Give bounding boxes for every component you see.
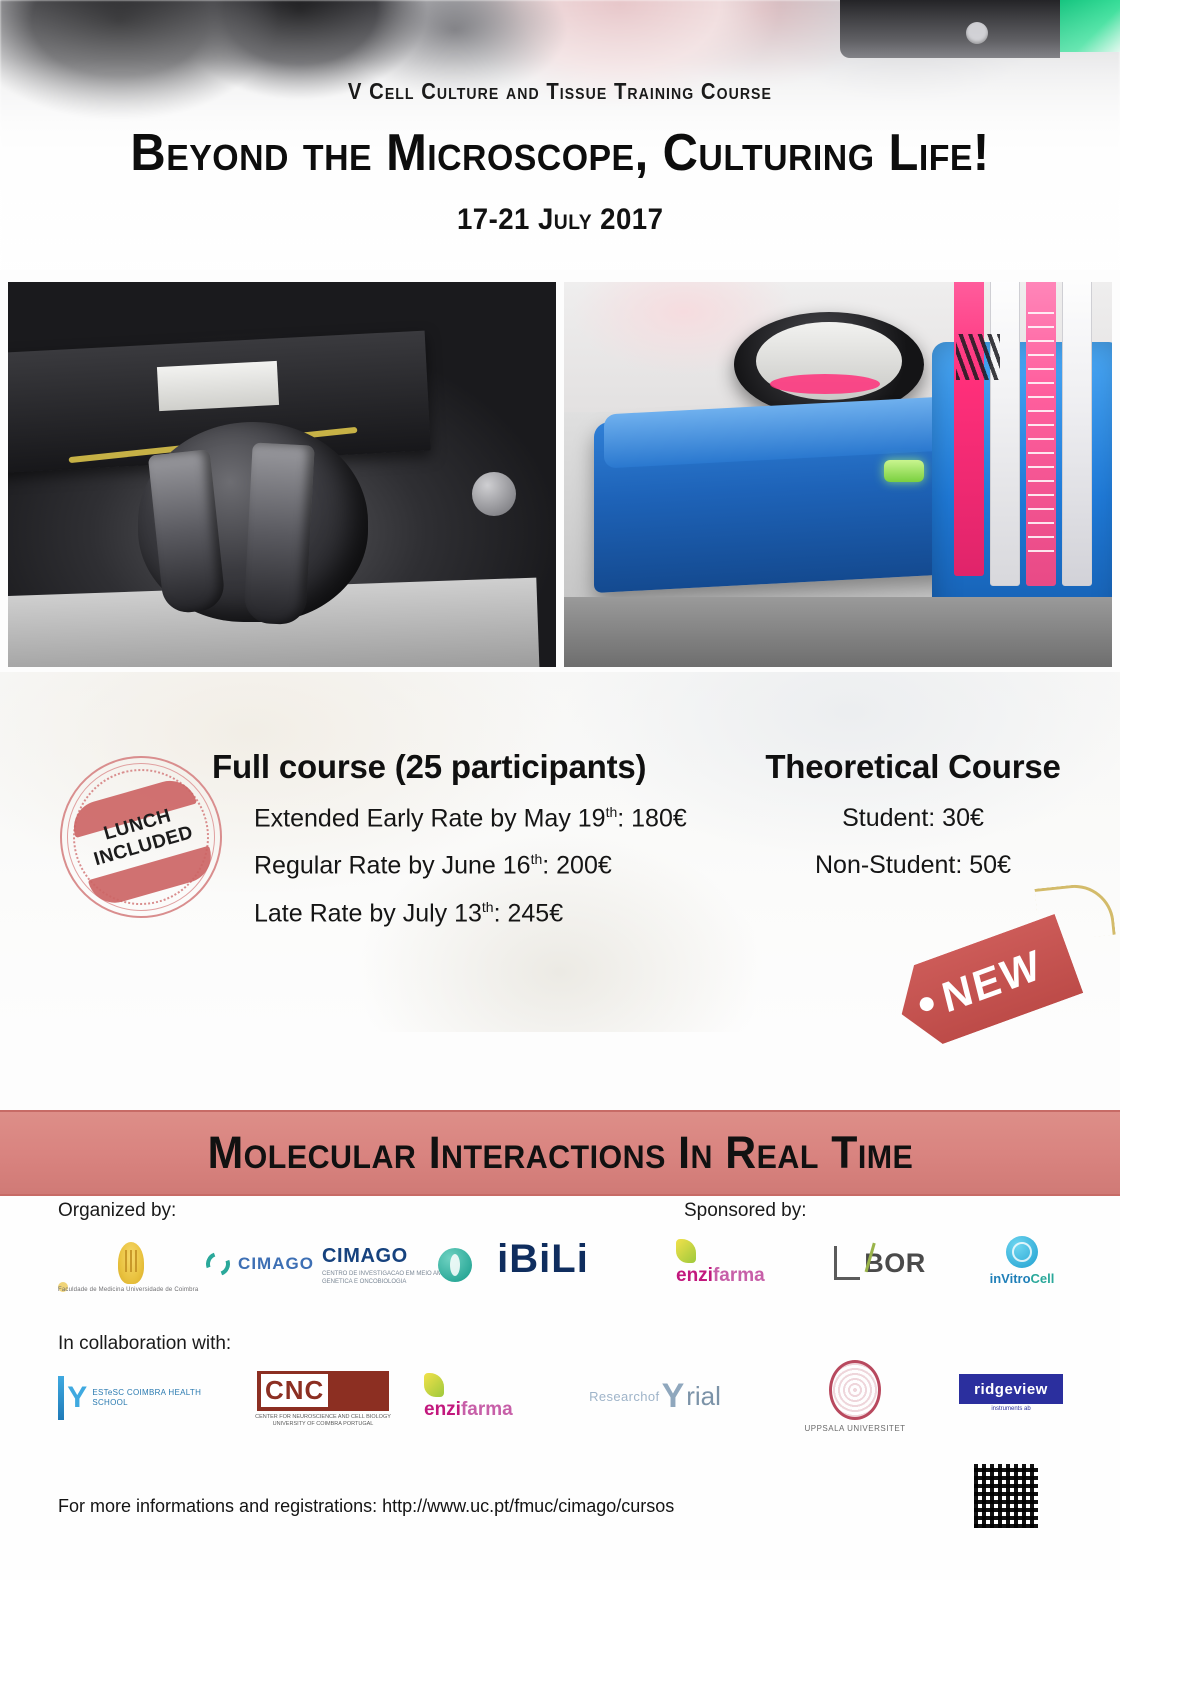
qr-code [972, 1462, 1040, 1530]
collaboration-label: In collaboration with: [58, 1333, 231, 1355]
research-trial-mid: of [648, 1389, 660, 1404]
rate-ordinal: th [531, 851, 543, 867]
logo-universidade-de-coimbra: Faculdade de Medicina Universidade de Co… [58, 1232, 204, 1294]
full-course-column: Full course (25 participants) Extended E… [212, 748, 732, 928]
full-course-rate: Late Rate by July 13th: 245€ [254, 899, 732, 928]
cnc-subtitle: CENTER FOR NEUROSCIENCE AND CELL BIOLOGY… [248, 1414, 398, 1428]
course-dates: 17-21 July 2017 [457, 203, 663, 237]
rate-price: : 245€ [494, 899, 564, 927]
uc-crest-icon [118, 1242, 144, 1284]
enzifarma-text-a: enzi [676, 1265, 713, 1286]
microscope-slide [157, 361, 279, 411]
logo-coimbra-health-school: Y ESTeSC COIMBRA HEALTH SCHOOL [58, 1368, 208, 1428]
organized-by-label: Organized by: [58, 1200, 176, 1222]
uppsala-seal-icon [829, 1360, 881, 1420]
theoretical-course-rate: Student: 30€ [748, 804, 1078, 833]
enzifarma-leaf-icon [424, 1373, 444, 1397]
clear-test-tube [1062, 282, 1092, 586]
logo-cimago-fmuc: CIMAGO CENTRO DE INVESTIGACAO EM MEIO AM… [322, 1234, 472, 1296]
enzifarma-text-b: farma [713, 1265, 765, 1286]
rate-ordinal: th [606, 804, 618, 820]
rate-price: : 180€ [617, 804, 687, 832]
enzifarma-wordmark: enzifarma [676, 1265, 765, 1287]
logo-ridgeview: ridgeview instruments ab [952, 1368, 1070, 1418]
title-block: V Cell Culture and Tissue Training Cours… [0, 0, 1120, 272]
chs-y-icon: Y [67, 1383, 87, 1413]
course-eyebrow: V Cell Culture and Tissue Training Cours… [348, 78, 772, 105]
microscope-photo [8, 282, 556, 667]
logo-enzifarma: enzifarma [676, 1232, 798, 1294]
microscope-focus-knob [472, 472, 516, 516]
clear-test-tube [990, 282, 1020, 586]
enzifarma-wordmark: enzifarma [424, 1399, 513, 1421]
theoretical-course-heading: Theoretical Course [748, 748, 1078, 786]
research-trial-y-icon: Y [662, 1377, 685, 1416]
ridgeview-box-icon: ridgeview [959, 1374, 1063, 1404]
ridgeview-wordmark: ridgeview [974, 1381, 1048, 1398]
page-title: Beyond the Microscope, Culturing Life! [130, 123, 989, 183]
cimago-wordmark: CIMAGO [238, 1254, 314, 1274]
enzifarma-text-a: enzi [424, 1399, 461, 1420]
enzifarma-leaf-icon [676, 1239, 696, 1263]
rate-label: Late Rate by July 13 [254, 899, 482, 927]
logo-uppsala-universitet: UPPSALA UNIVERSITET [800, 1358, 910, 1436]
cimago-fmuc-circle-icon [438, 1248, 472, 1282]
logo-enzifarma: enzifarma [424, 1366, 546, 1428]
poster: V Cell Culture and Tissue Training Cours… [0, 0, 1120, 1580]
cimago-ring-icon [202, 1248, 234, 1280]
theoretical-course-column: Theoretical Course Student: 30€ Non-Stud… [748, 748, 1078, 880]
labor-flask-icon [834, 1246, 860, 1280]
invitrocell-text-b: Cell [1031, 1271, 1055, 1286]
pink-test-tube [954, 282, 984, 576]
rate-ordinal: th [482, 899, 494, 915]
tube-graduation-marks [1028, 312, 1054, 552]
centrifuge-pink-sample [770, 374, 880, 394]
cnc-box-icon: CNC [257, 1371, 389, 1411]
invitrocell-text-a: inVitro [990, 1271, 1031, 1286]
logo-invitrocell: inVitroCell [966, 1228, 1078, 1294]
enzifarma-text-b: farma [461, 1399, 513, 1420]
full-course-rate: Regular Rate by June 16th: 200€ [254, 851, 732, 880]
labor-wordmark: BOR [864, 1248, 926, 1279]
highlight-banner: Molecular Interactions In Real Time [0, 1110, 1120, 1196]
lab-equipment-photo [564, 282, 1112, 667]
uc-logo-text: Faculdade de Medicina Universidade de Co… [58, 1286, 198, 1294]
logo-cnc: CNC CENTER FOR NEUROSCIENCE AND CELL BIO… [248, 1368, 398, 1430]
ibili-wordmark: iBiLi [497, 1237, 589, 1282]
banner-title: Molecular Interactions In Real Time [207, 1127, 913, 1179]
research-trial-prefix: Research [589, 1389, 648, 1404]
logo-cimago: CIMAGO [200, 1244, 320, 1284]
uppsala-wordmark: UPPSALA UNIVERSITET [804, 1424, 905, 1434]
microscope-objective-lens [243, 443, 314, 626]
theoretical-course-rate: Non-Student: 50€ [748, 851, 1078, 880]
full-course-heading: Full course (25 participants) [212, 748, 732, 786]
lab-bench-surface [564, 597, 1112, 667]
sponsored-by-label: Sponsored by: [684, 1200, 807, 1222]
rack-hatch-pattern [956, 334, 1000, 380]
photo-row [0, 282, 1120, 667]
invitrocell-cell-icon [1006, 1236, 1038, 1268]
chs-wordmark: ESTeSC COIMBRA HEALTH SCHOOL [92, 1388, 208, 1408]
research-trial-suffix: rial [686, 1381, 721, 1412]
logo-research-trial: Research of Y rial [580, 1368, 730, 1424]
full-course-rate: Extended Early Rate by May 19th: 180€ [254, 804, 732, 833]
registration-info-text: For more informations and registrations:… [58, 1496, 674, 1517]
rate-label: Regular Rate by June 16 [254, 852, 531, 880]
logo-labor: BOR [820, 1234, 940, 1292]
ridgeview-subtitle: instruments ab [959, 1406, 1063, 1412]
rate-label: Extended Early Rate by May 19 [254, 804, 606, 832]
chs-bar-icon [58, 1376, 64, 1420]
cnc-wordmark: CNC [261, 1374, 328, 1407]
instrument-led-indicator [884, 460, 924, 482]
rate-price: : 200€ [542, 852, 612, 880]
invitrocell-wordmark: inVitroCell [990, 1271, 1055, 1286]
logo-ibili: iBiLi [488, 1226, 598, 1292]
